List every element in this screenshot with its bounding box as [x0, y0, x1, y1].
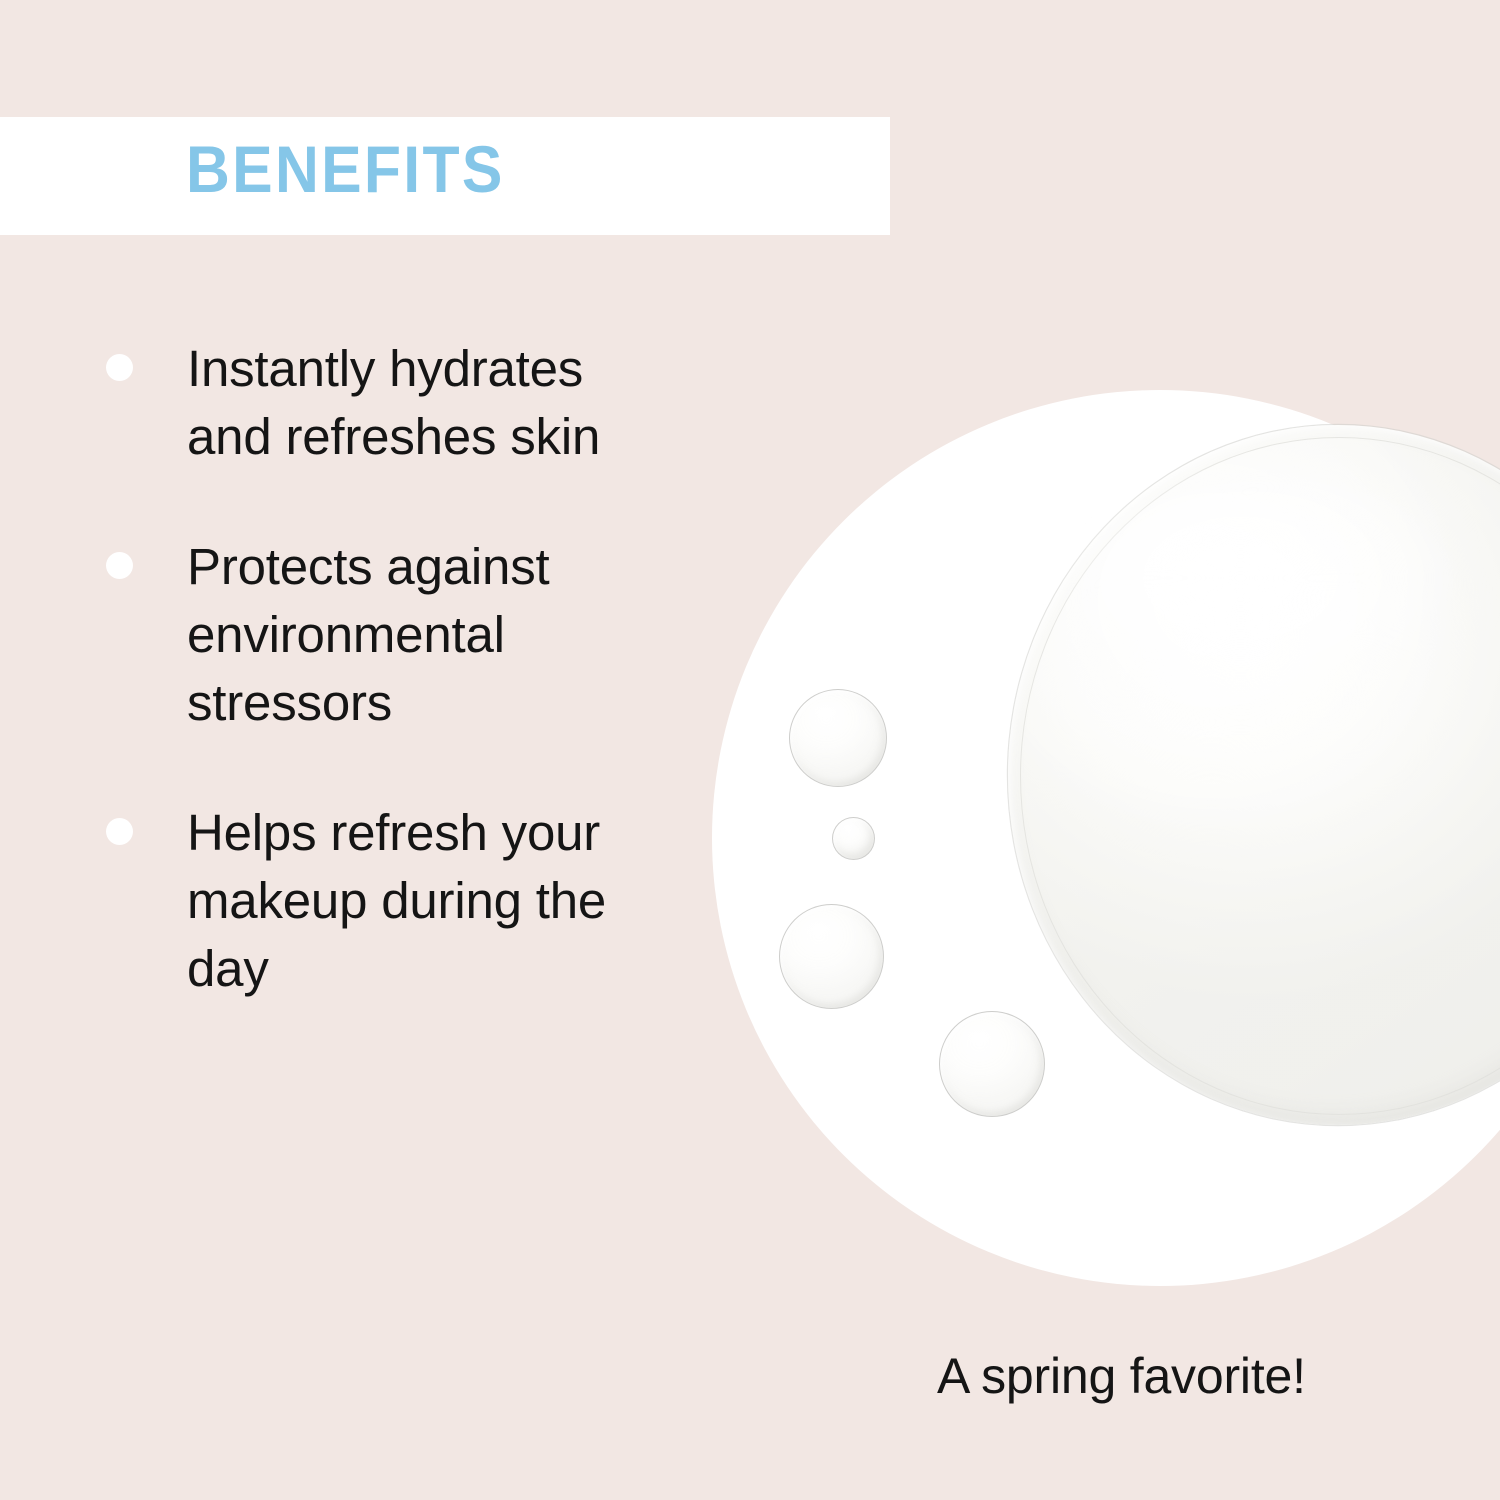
gel-droplet-highlight	[1060, 470, 1490, 770]
bullet-dot-icon	[106, 354, 133, 381]
list-item: Instantly hydrates and refreshes skin	[106, 335, 706, 471]
water-droplet-tiny-icon	[832, 817, 875, 860]
list-item: Protects against environmental stressors	[106, 533, 706, 737]
benefit-text: Protects against environmental stressors	[187, 533, 657, 737]
water-droplet-large-upper-icon	[789, 689, 887, 787]
page-title: BENEFITS	[186, 136, 505, 202]
water-droplet-lower-icon	[939, 1011, 1045, 1117]
water-droplet-medium-icon	[779, 904, 884, 1009]
list-item: Helps refresh your makeup during the day	[106, 799, 706, 1003]
benefit-text: Helps refresh your makeup during the day	[187, 799, 657, 1003]
footer-caption: A spring favorite!	[937, 1347, 1306, 1405]
benefits-list: Instantly hydrates and refreshes skin Pr…	[106, 335, 706, 1065]
white-circle-backdrop	[712, 390, 1500, 1286]
gel-droplet-rim	[1020, 437, 1500, 1115]
promo-card: BENEFITS Instantly hydrates and refreshe…	[0, 0, 1500, 1500]
bullet-dot-icon	[106, 818, 133, 845]
bullet-dot-icon	[106, 552, 133, 579]
benefit-text: Instantly hydrates and refreshes skin	[187, 335, 657, 471]
large-gel-droplet	[1008, 425, 1500, 1125]
